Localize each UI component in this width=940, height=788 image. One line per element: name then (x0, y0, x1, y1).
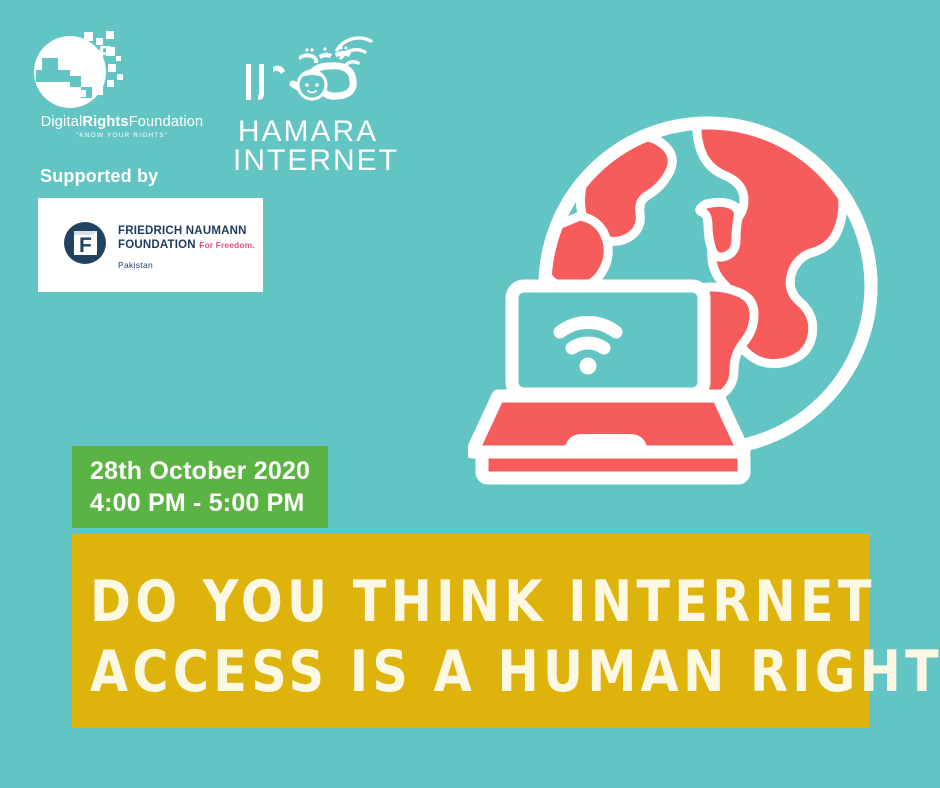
drf-name: DigitalRightsFoundation (22, 114, 222, 130)
svg-text:F: F (79, 234, 92, 257)
svg-text:DRF: DRF (69, 43, 112, 65)
event-date-banner: 28th October 2020 4:00 PM - 5:00 PM (72, 446, 328, 528)
fnf-badge-icon: F (62, 220, 108, 266)
headline-banner: DO YOU THINK INTERNET ACCESS IS A HUMAN … (72, 534, 869, 728)
fnf-line1: FRIEDRICH NAUMANN (118, 224, 255, 238)
drf-tagline: "KNOW YOUR RIGHTS" (22, 132, 222, 139)
hamara-internet-line1: HAMARA (233, 117, 383, 147)
hamara-internet-logo: HAMARA INTERNET (233, 22, 383, 167)
supported-by-label: Supported by (40, 166, 158, 187)
fnf-country: Pakistan (118, 260, 255, 270)
headline-line-1: DO YOU THINK INTERNET (90, 568, 820, 638)
event-date: 28th October 2020 (90, 456, 310, 488)
fnf-tagline: For Freedom. (199, 240, 255, 250)
headline-text: DO YOU THINK INTERNET ACCESS IS A HUMAN … (90, 568, 820, 707)
logo-row: DRF DigitalRightsFoundation "KNOW YOUR R… (0, 0, 420, 170)
event-time: 4:00 PM - 5:00 PM (90, 488, 310, 520)
headline-line-2: ACCESS IS A HUMAN RIGHT? (90, 638, 820, 708)
globe-laptop-wifi-illustration (468, 96, 880, 508)
drf-logo: DRF DigitalRightsFoundation "KNOW YOUR R… (22, 30, 222, 155)
fnf-line2: FOUNDATION For Freedom. (118, 238, 255, 252)
hamara-internet-line2: INTERNET (233, 146, 383, 176)
hamara-internet-mark-icon (233, 22, 383, 117)
drf-wordmark: DigitalRightsFoundation "KNOW YOUR RIGHT… (22, 114, 222, 139)
drf-mark-icon: DRF (22, 30, 222, 112)
fnf-logo-card: F FRIEDRICH NAUMANN FOUNDATION For Freed… (38, 198, 263, 292)
poster-canvas: DRF DigitalRightsFoundation "KNOW YOUR R… (0, 0, 940, 788)
